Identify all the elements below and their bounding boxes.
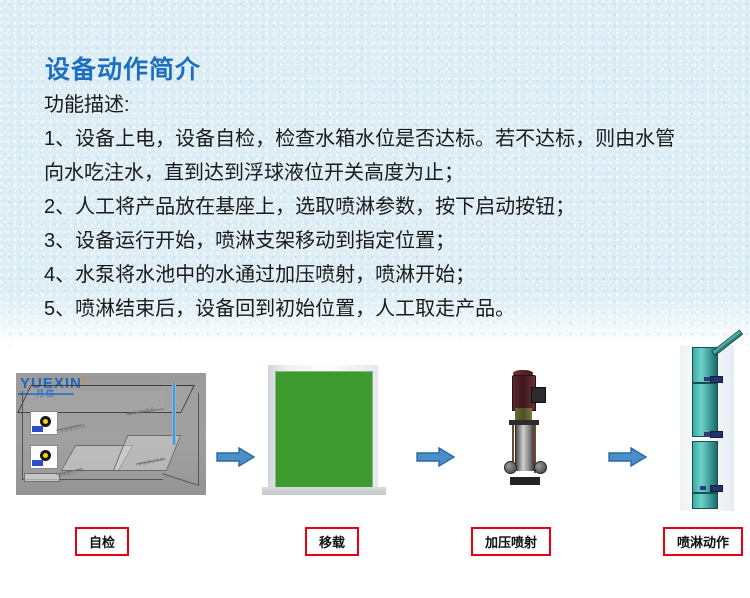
- description-line-4: 4、水泵将水池中的水通过加压喷射，喷淋开始；: [44, 258, 724, 292]
- description-line-5: 5、喷淋结束后，设备回到初始位置，人工取走产品。: [44, 292, 724, 326]
- column-segment-4: [692, 493, 718, 509]
- description-heading: 功能描述:: [44, 88, 724, 122]
- arrow-right-icon: [216, 447, 256, 467]
- flow-arrow-2: [416, 447, 456, 467]
- float-switch-tag: [32, 426, 43, 432]
- float-switch-tag: [32, 460, 43, 466]
- pump-suction-port: [504, 461, 517, 474]
- green-product-surface: [275, 371, 373, 490]
- process-flow-panel: YUEXIN® 月信 浮球液位开关: [12, 341, 738, 591]
- figure-green-panel-product: [268, 365, 378, 501]
- nozzle-fitting-2: [710, 431, 723, 438]
- flow-arrow-1: [216, 447, 256, 467]
- pump-terminal-box: [531, 387, 546, 403]
- pump-discharge-port: [534, 461, 547, 474]
- nozzle-fitting-3: [710, 485, 723, 492]
- nozzle-nipple-1: [704, 377, 710, 381]
- registered-mark-icon: ®: [82, 378, 87, 384]
- nozzle-nipple-3: [700, 486, 706, 490]
- description-line-1: 1、设备上电，设备自检，检查水箱水位是否达标。若不达标，则由水管向水吃注水，直到…: [44, 122, 684, 190]
- figure-spray-column-bracket: [680, 345, 734, 511]
- arrow-right-icon: [608, 447, 648, 467]
- tank-water-pipe: [172, 383, 176, 445]
- float-switch-box-lower: [30, 445, 58, 469]
- page-title: 设备动作简介: [45, 50, 201, 86]
- column-segment-2: [692, 383, 718, 437]
- tank-base-plate: [24, 473, 60, 482]
- flow-stage: YUEXIN® 月信 浮球液位开关: [12, 341, 738, 591]
- description-line-3: 3、设备运行开始，喷淋支架移动到指定位置；: [44, 224, 724, 258]
- slide-page: 设备动作简介 功能描述: 1、设备上电，设备自检，检查水箱水位是否达标。若不达标…: [0, 0, 750, 598]
- nozzle-fitting-1: [710, 376, 723, 383]
- panel-floor-plate: [262, 487, 386, 495]
- step-label-spray-action: 喷淋动作: [663, 527, 743, 556]
- figure-vertical-multistage-pump: [498, 369, 558, 495]
- description-block: 功能描述: 1、设备上电，设备自检，检查水箱水位是否达标。若不达标，则由水管向水…: [44, 88, 724, 326]
- step-label-pressurized-spray: 加压喷射: [471, 527, 551, 556]
- flow-arrow-3: [608, 447, 648, 467]
- tank-right-face: [162, 381, 199, 486]
- pump-stage-body: [515, 425, 535, 471]
- description-line-2: 2、人工将产品放在基座上，选取喷淋参数，按下启动按钮；: [44, 190, 724, 224]
- figure-water-tank-diagram: YUEXIN® 月信 浮球液位开关: [16, 373, 206, 495]
- pump-base-foot: [510, 477, 540, 485]
- nozzle-nipple-2: [704, 432, 710, 436]
- arrow-right-icon: [416, 447, 456, 467]
- float-switch-box-upper: [30, 411, 58, 435]
- step-label-transfer: 移载: [305, 527, 359, 556]
- step-label-self-check: 自检: [75, 527, 129, 556]
